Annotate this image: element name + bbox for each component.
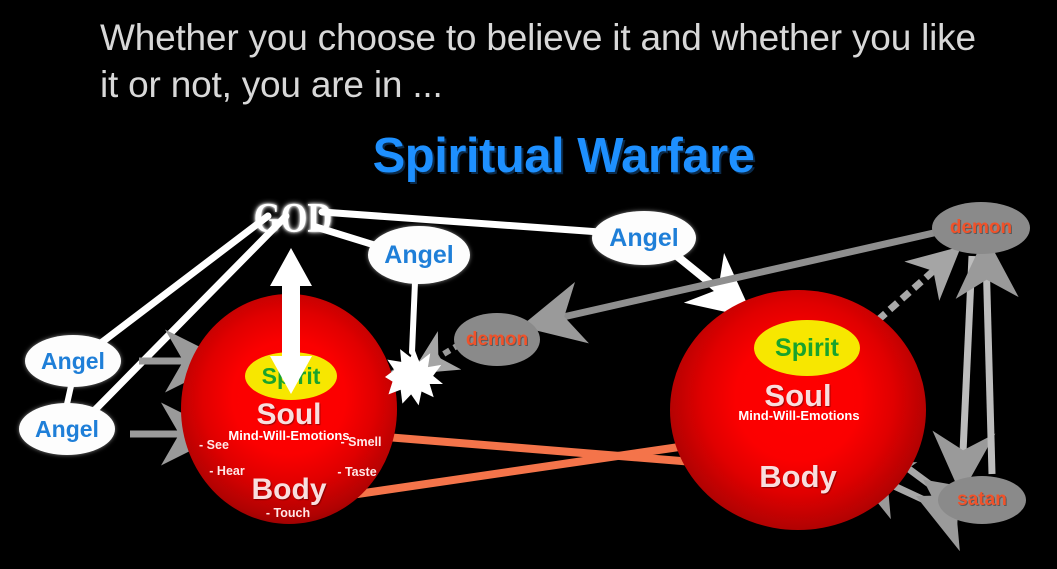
- diagram-canvas: Whether you choose to believe it and whe…: [0, 0, 1057, 569]
- god-label: GOD: [255, 198, 330, 240]
- foreground-arrow-layer: [0, 0, 1057, 569]
- arrow-god-spirit-double: [270, 248, 312, 394]
